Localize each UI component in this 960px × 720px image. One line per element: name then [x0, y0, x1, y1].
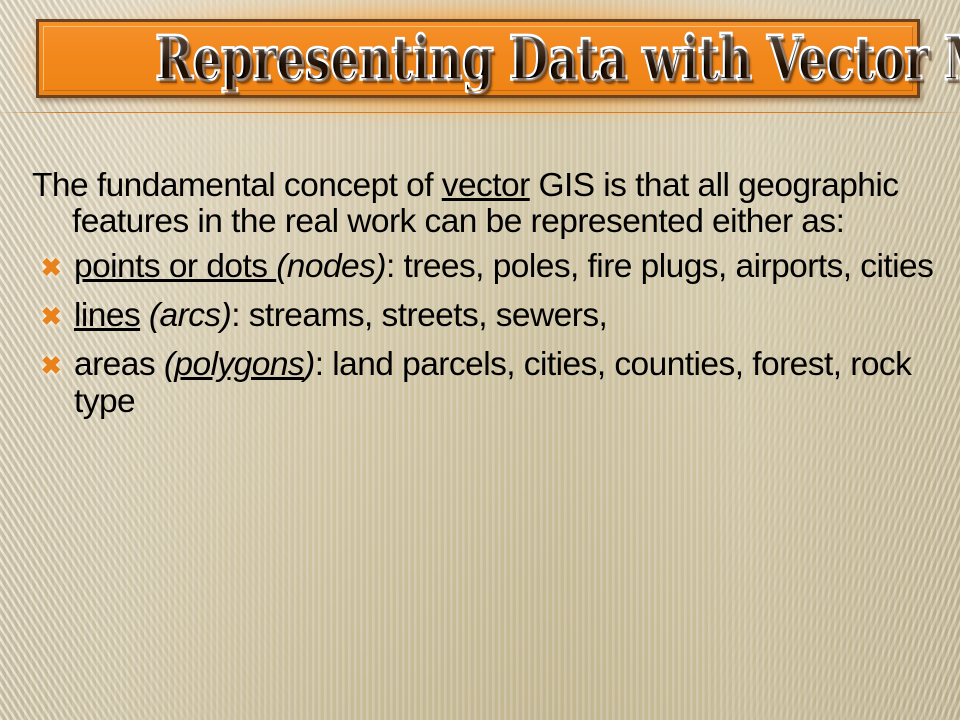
intro-paragraph: The fundamental concept of vector GIS is…	[0, 168, 960, 241]
bullet-x-icon: ✖	[38, 255, 64, 281]
bullet-1-alias: (nodes)	[276, 248, 386, 285]
bullet-2-examples: : streams, streets, sewers,	[231, 297, 607, 334]
bullet-1-examples: : trees, poles, fire plugs, airports, ci…	[386, 248, 933, 285]
slide-body: The fundamental concept of vector GIS is…	[0, 168, 960, 425]
bullet-2-term: lines	[74, 297, 140, 334]
bullet-x-icon: ✖	[38, 353, 64, 379]
bullet-3-alias: polygons	[174, 346, 304, 383]
page-title: Representing Data with Vector Mode	[39, 30, 917, 87]
intro-segment-1: The fundamental concept of	[32, 167, 442, 204]
header-divider-rule	[0, 112, 960, 113]
bullet-2-alias: (arcs)	[140, 297, 231, 334]
bullet-3-paren-open: (	[164, 346, 175, 383]
title-banner: Representing Data with Vector Mode	[36, 19, 920, 98]
slide: Representing Data with Vector Mode The f…	[0, 0, 960, 720]
list-item: ✖ points or dots (nodes): trees, poles, …	[0, 249, 960, 285]
bullet-3-paren-close: )	[304, 346, 315, 383]
page-title-text: Representing Data with Vector Mode	[155, 28, 960, 88]
bullet-1-term: points or dots	[74, 248, 276, 285]
bullet-x-icon: ✖	[38, 304, 64, 330]
list-item: ✖ lines (arcs): streams, streets, sewers…	[0, 298, 960, 334]
bullet-3-term: areas	[74, 346, 164, 383]
intro-keyword-vector: vector	[442, 167, 530, 204]
list-item: ✖ areas (polygons): land parcels, cities…	[0, 347, 960, 420]
